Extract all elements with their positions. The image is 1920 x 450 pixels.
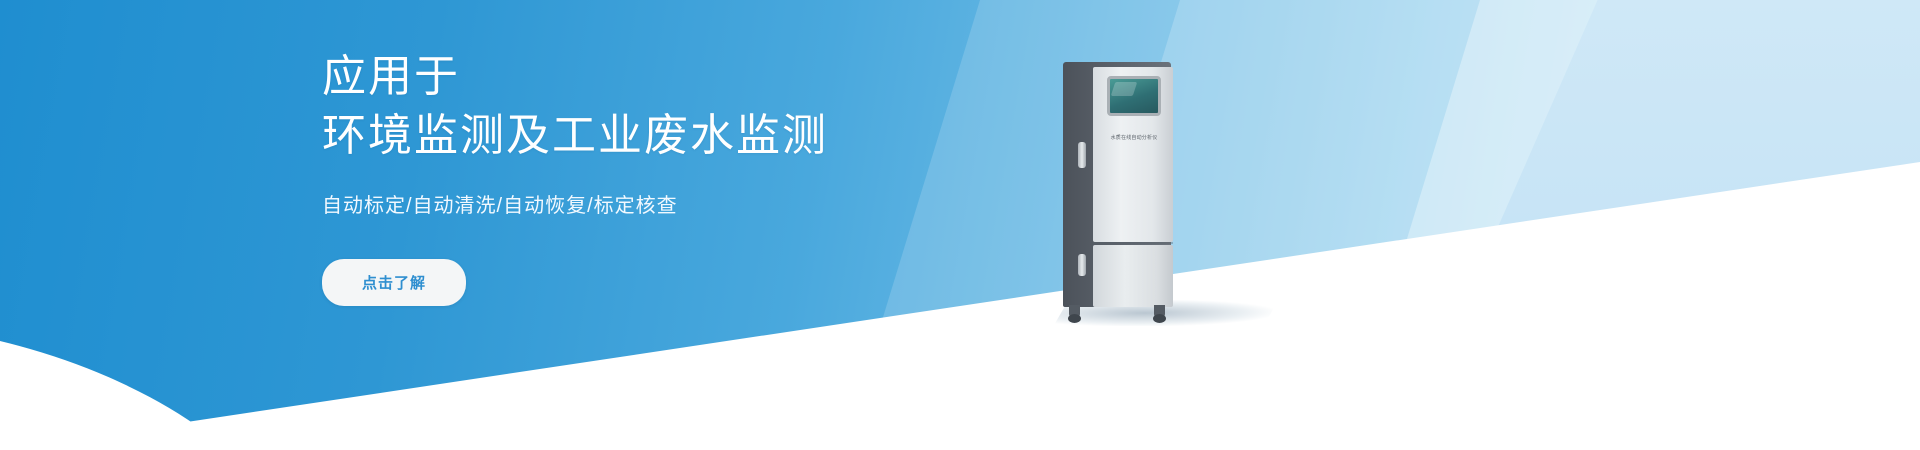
device-seam	[1093, 242, 1173, 244]
device-caster-left	[1068, 314, 1081, 323]
hero-headline-line1: 应用于	[322, 48, 1082, 107]
device-lower-handle	[1078, 254, 1086, 276]
device-display-screen	[1107, 76, 1161, 116]
hero-subtitle: 自动标定/自动清洗/自动恢复/标定核查	[322, 191, 1082, 221]
analyzer-device-image: 水质在线自动分析仪	[1055, 62, 1255, 322]
hero-headline-line2: 环境监测及工业废水监测	[322, 107, 1082, 166]
device-cabinet: 水质在线自动分析仪	[1063, 62, 1171, 307]
device-caster-right	[1153, 314, 1166, 323]
learn-more-button[interactable]: 点击了解	[322, 259, 466, 306]
hero-banner: 应用于 环境监测及工业废水监测 自动标定/自动清洗/自动恢复/标定核查 点击了解…	[0, 0, 1920, 450]
screen-glare	[1111, 82, 1138, 96]
device-upper-handle	[1078, 142, 1086, 168]
device-label: 水质在线自动分析仪	[1097, 134, 1171, 141]
hero-content: 应用于 环境监测及工业废水监测 自动标定/自动清洗/自动恢复/标定核查 点击了解	[322, 48, 1082, 306]
device-lower-door	[1093, 245, 1173, 307]
